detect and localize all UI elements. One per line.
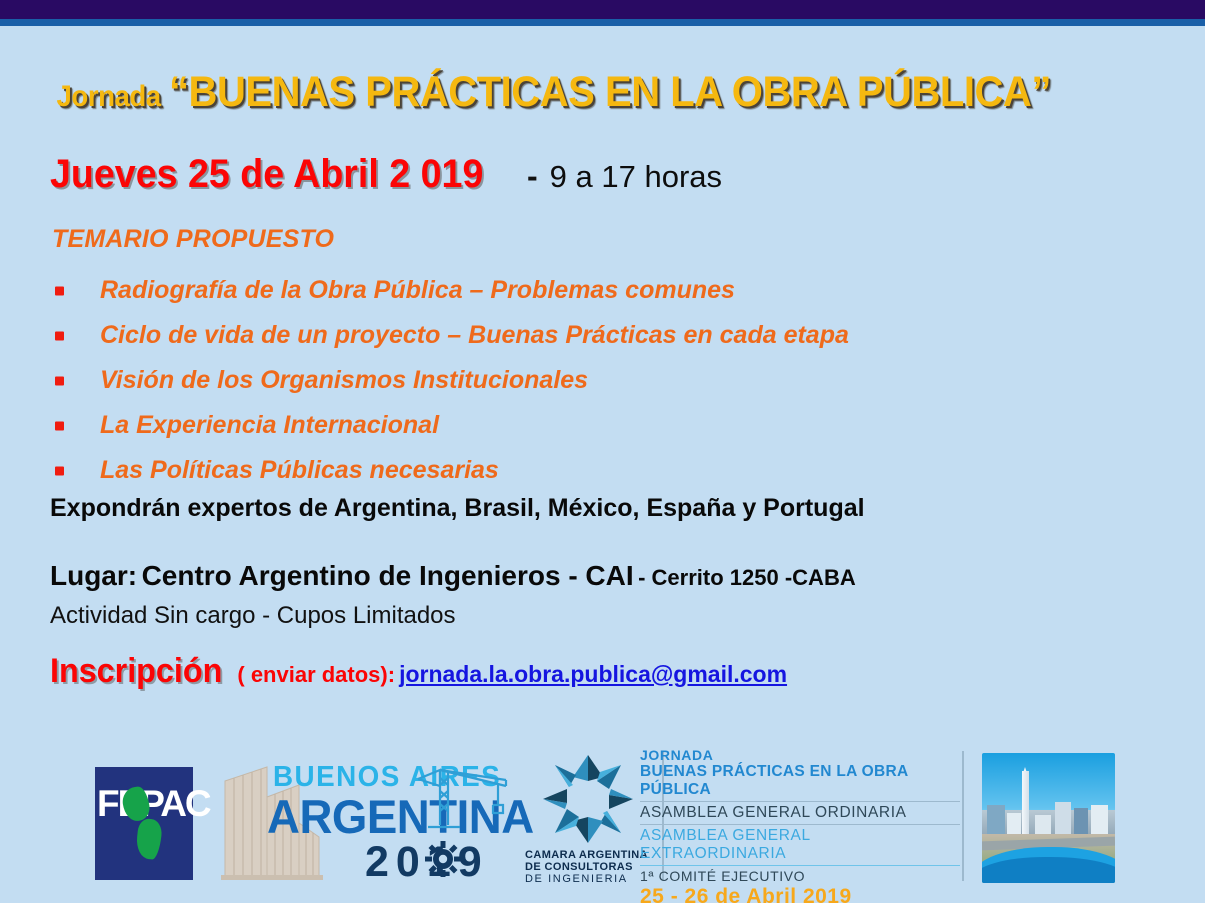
registration-email-link[interactable]: jornada.la.obra.publica@gmail.com <box>399 661 787 687</box>
venue-line: Lugar: Centro Argentino de Ingenieros - … <box>50 560 856 592</box>
bullet-icon <box>55 331 64 340</box>
headline-kicker: Jornada <box>57 80 161 114</box>
agenda-item-label: La Experiencia Internacional <box>100 411 439 439</box>
buenos-aires-argentina-logo: BUENOS AIRES ARGENTINA <box>265 755 525 885</box>
building <box>1007 813 1020 834</box>
page-title: Jornada“BUENAS PRÁCTICAS EN LA OBRA PÚBL… <box>52 68 1117 117</box>
dateline-separator: - <box>527 158 538 194</box>
event-comite: 1ª COMITÉ EJECUTIVO <box>640 868 960 885</box>
list-item: Las Políticas Públicas necesarias <box>52 448 952 493</box>
building <box>987 805 1004 834</box>
building <box>1055 802 1071 833</box>
bullet-icon <box>55 421 64 430</box>
list-item: La Experiencia Internacional <box>52 403 952 448</box>
bullet-icon <box>55 466 64 475</box>
bullet-icon <box>55 286 64 295</box>
building <box>1035 815 1051 833</box>
list-item: Radiografía de la Obra Pública – Problem… <box>52 268 952 313</box>
registration-line: Inscripción( enviar datos):jornada.la.ob… <box>50 652 787 691</box>
event-jornada: JORNADA <box>640 747 960 763</box>
pinwheel-icon <box>537 751 639 846</box>
venue-address: - Cerrito 1250 -CABA <box>638 565 856 590</box>
venue-name: Centro Argentino de Ingenieros - CAI <box>142 560 634 591</box>
venue-cost: Actividad Sin cargo - Cupos Limitados <box>50 602 456 630</box>
fepac-logo: FEPAC <box>95 767 193 880</box>
event-details-block: JORNADA BUENAS PRÁCTICAS EN LA OBRA PÚBL… <box>640 747 960 903</box>
obelisk-shaft <box>1022 771 1029 839</box>
list-item: Visión de los Organismos Institucionales <box>52 358 952 403</box>
top-blue-bar <box>0 19 1205 26</box>
agenda-list: Radiografía de la Obra Pública – Problem… <box>52 268 952 493</box>
agenda-heading: TEMARIO PROPUESTO <box>52 225 334 254</box>
venue-label: Lugar: <box>50 560 137 591</box>
building <box>1074 808 1089 834</box>
poster-canvas: Jornada“BUENAS PRÁCTICAS EN LA OBRA PÚBL… <box>0 0 1205 903</box>
event-buenas-practicas: BUENAS PRÁCTICAS EN LA OBRA PÚBLICA <box>640 763 960 799</box>
event-dateline: Jueves 25 de Abril 2 019-9 a 17 horas <box>50 152 722 197</box>
event-dates: 25 - 26 de Abril 2019 <box>640 885 960 903</box>
agenda-item-label: Ciclo de vida de un proyecto – Buenas Pr… <box>100 321 849 349</box>
obelisk-photo <box>982 753 1115 883</box>
registration-note: ( enviar datos): <box>237 662 395 687</box>
caci-caption: CAMARA ARGENTINA DE CONSULTORAS DE INGEN… <box>525 849 650 885</box>
event-hours: 9 a 17 horas <box>550 159 722 194</box>
caci-logo: CAMARA ARGENTINA DE CONSULTORAS DE INGEN… <box>525 751 650 886</box>
event-asamblea-extraordinaria: ASAMBLEA GENERAL EXTRAORDINARIA <box>640 827 960 863</box>
bullet-icon <box>55 376 64 385</box>
list-item: Ciclo de vida de un proyecto – Buenas Pr… <box>52 313 952 358</box>
speakers-line: Expondrán expertos de Argentina, Brasil,… <box>50 494 865 523</box>
wave-graphic-dark <box>982 857 1115 883</box>
caci-line3: DE INGENIERIA <box>525 873 650 885</box>
footer-logo-strip: FEPAC <box>0 735 1205 903</box>
agenda-item-label: Las Políticas Públicas necesarias <box>100 456 499 484</box>
top-navy-bar <box>0 0 1205 19</box>
gear-icon <box>425 841 461 877</box>
registration-heading: Inscripción <box>50 652 222 691</box>
logo-divider <box>962 751 964 881</box>
event-date: Jueves 25 de Abril 2 019 <box>50 152 483 197</box>
event-asamblea-ordinaria: ASAMBLEA GENERAL ORDINARIA <box>640 804 960 822</box>
construction-crane-icon <box>410 753 515 848</box>
caci-line1: CAMARA ARGENTINA <box>525 849 650 861</box>
headline-title: “BUENAS PRÁCTICAS EN LA OBRA PÚBLICA” <box>169 68 1051 117</box>
divider <box>640 824 960 825</box>
agenda-item-label: Visión de los Organismos Institucionales <box>100 366 588 394</box>
agenda-item-label: Radiografía de la Obra Pública – Problem… <box>100 276 735 304</box>
building <box>1091 805 1108 834</box>
divider <box>640 801 960 802</box>
caci-line2: DE CONSULTORAS <box>525 861 650 873</box>
divider <box>640 865 960 866</box>
